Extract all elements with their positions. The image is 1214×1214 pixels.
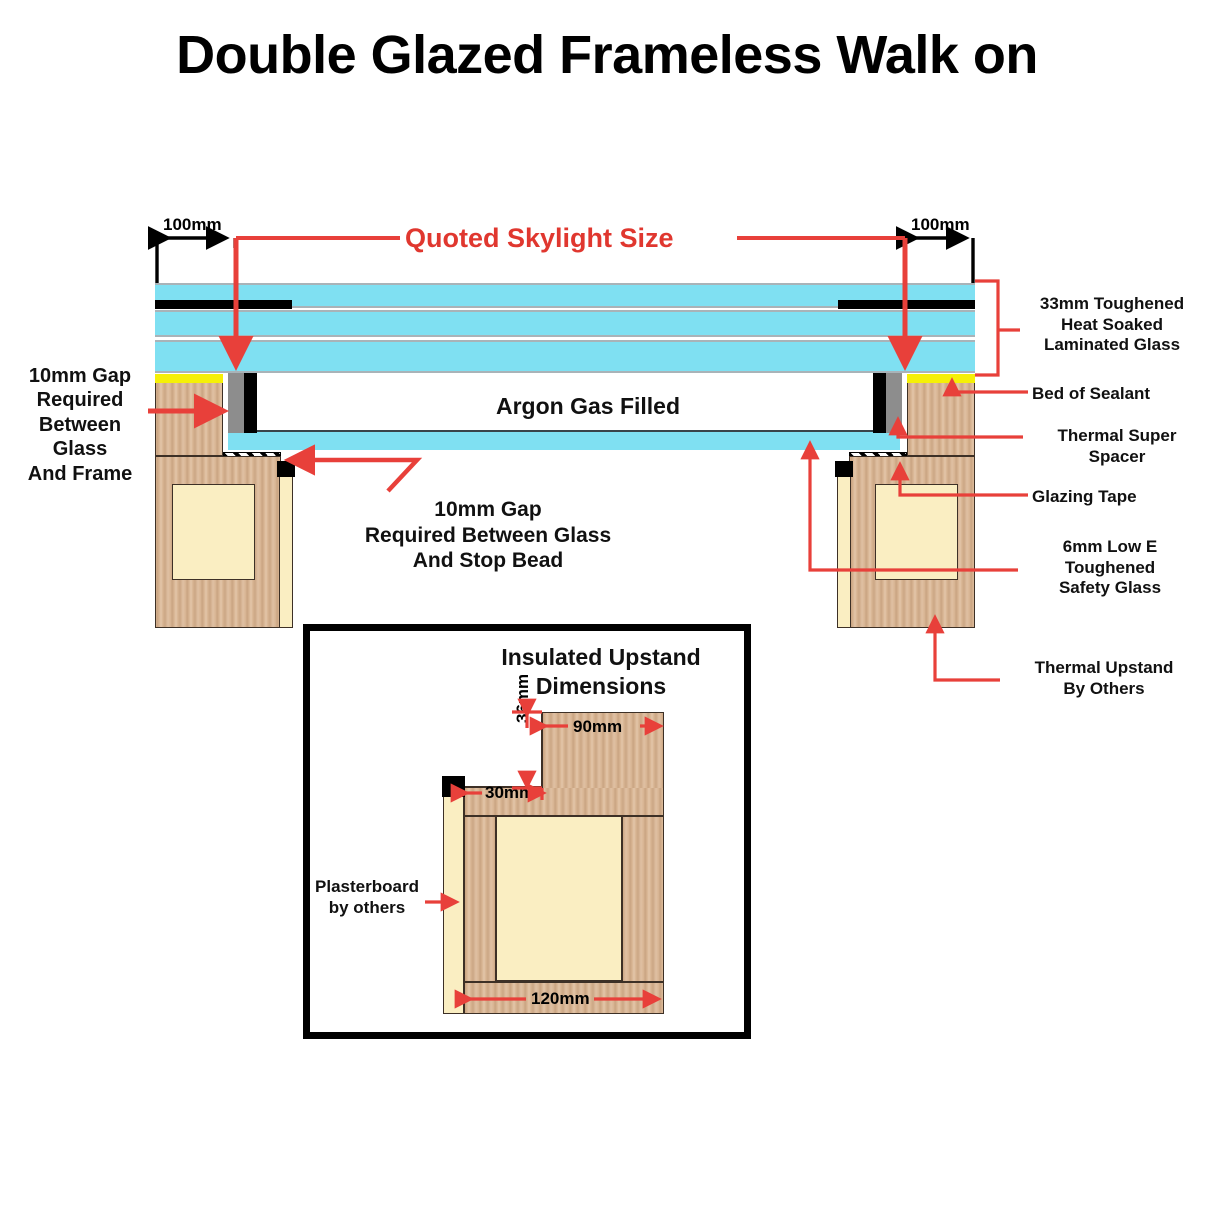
inset-dim-36mm: 36mm xyxy=(513,674,533,723)
leader-laminated-glass xyxy=(975,281,1020,375)
inset-dim-120mm: 120mm xyxy=(531,989,590,1009)
label-glazing-tape: Glazing Tape xyxy=(1032,487,1212,508)
label-bed-of-sealant: Bed of Sealant xyxy=(1032,384,1212,405)
right-upstand-upper xyxy=(907,381,975,456)
interlayer-bar-right xyxy=(838,300,975,309)
leader-10mm-gap-stop-bead xyxy=(290,460,417,491)
left-100mm-label: 100mm xyxy=(163,215,222,235)
right-spacer-seal xyxy=(873,373,886,433)
label-low-e-glass: 6mm Low E Toughened Safety Glass xyxy=(1020,537,1200,599)
left-plasterboard xyxy=(279,474,293,628)
inset-insulation-core xyxy=(496,816,622,981)
glass-layer-middle xyxy=(155,310,975,337)
left-bed-of-sealant xyxy=(155,374,223,383)
label-thermal-upstand: Thermal Upstand By Others xyxy=(1004,658,1204,699)
inset-upstand-step-riser xyxy=(541,712,543,788)
low-e-glass-pane xyxy=(228,430,900,450)
inset-plasterboard xyxy=(443,794,464,1014)
inset-top-rail-line xyxy=(464,815,664,817)
left-spacer-seal xyxy=(244,373,257,433)
inset-dim-30mm: 30mm xyxy=(485,783,534,803)
inset-dim-90mm: 90mm xyxy=(573,717,622,737)
label-10mm-gap-frame: 10mm Gap Required Between Glass And Fram… xyxy=(10,364,150,486)
dim-100mm-left xyxy=(157,238,235,283)
left-thermal-super-spacer xyxy=(228,373,244,433)
left-upstand-insulation-core xyxy=(172,484,255,580)
label-laminated-glass: 33mm Toughened Heat Soaked Laminated Gla… xyxy=(1022,294,1202,356)
dim-100mm-right xyxy=(905,238,973,283)
right-plasterboard-cap xyxy=(835,461,853,477)
quoted-skylight-size-label: Quoted Skylight Size xyxy=(405,222,674,254)
left-upstand-upper xyxy=(155,381,223,456)
right-thermal-super-spacer xyxy=(886,373,902,433)
argon-gas-label: Argon Gas Filled xyxy=(473,392,703,420)
label-10mm-gap-stop-bead: 10mm Gap Required Between Glass And Stop… xyxy=(318,497,658,574)
glass-layer-bottom xyxy=(155,340,975,373)
right-upstand-insulation-core xyxy=(875,484,958,580)
inset-label-plasterboard: Plasterboard by others xyxy=(305,877,429,918)
inset-core-divider-left xyxy=(495,816,497,981)
right-bed-of-sealant xyxy=(907,374,975,383)
inset-plasterboard-cap xyxy=(442,776,465,797)
page-title: Double Glazed Frameless Walk on xyxy=(0,24,1214,86)
inset-core-divider-right xyxy=(621,816,623,981)
left-plasterboard-cap xyxy=(277,461,295,477)
interlayer-bar-left xyxy=(155,300,292,309)
label-thermal-super-spacer: Thermal Super Spacer xyxy=(1027,426,1207,467)
inset-title: Insulated Upstand Dimensions xyxy=(461,643,741,701)
inset-bottom-rail-line xyxy=(464,981,664,983)
diagram-canvas: Double Glazed Frameless Walk on Argon Ga… xyxy=(0,0,1214,1214)
right-100mm-label: 100mm xyxy=(911,215,970,235)
right-plasterboard xyxy=(837,474,851,628)
